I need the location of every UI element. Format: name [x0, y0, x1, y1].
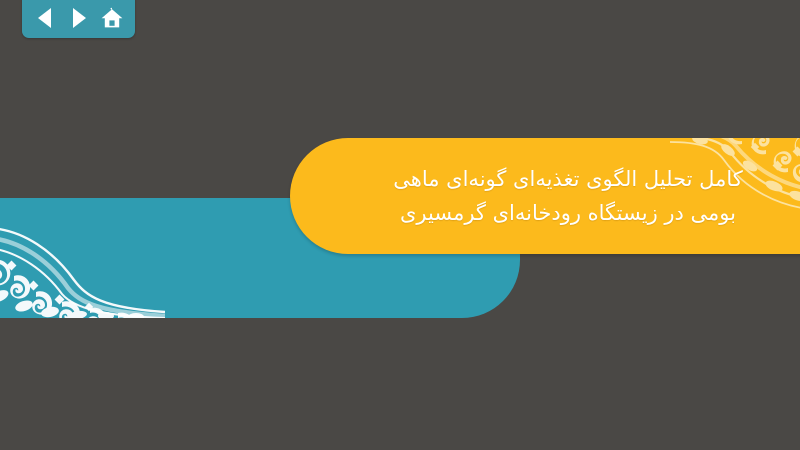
- home-button[interactable]: [99, 5, 125, 31]
- slide-title: کامل تحلیل الگوی تغذیه‌ای گونه‌ای ماهی ب…: [350, 162, 786, 230]
- next-slide-button[interactable]: [66, 5, 92, 31]
- title-panel: کامل تحلیل الگوی تغذیه‌ای گونه‌ای ماهی ب…: [290, 138, 800, 254]
- presentation-slide: کامل تحلیل الگوی تغذیه‌ای گونه‌ای ماهی ب…: [0, 0, 800, 450]
- slide-title-line-1: کامل تحلیل الگوی تغذیه‌ای گونه‌ای ماهی: [350, 162, 786, 196]
- slide-navigation-toolbar[interactable]: [22, 0, 135, 38]
- slide-title-line-2: بومی در زیستگاه رودخانه‌ای گرمسیری: [350, 196, 786, 230]
- previous-slide-button[interactable]: [32, 5, 58, 31]
- arabesque-corner-ornament: [0, 200, 165, 318]
- next-triangle-icon: [69, 7, 89, 29]
- home-icon: [100, 6, 124, 30]
- previous-triangle-icon: [35, 7, 55, 29]
